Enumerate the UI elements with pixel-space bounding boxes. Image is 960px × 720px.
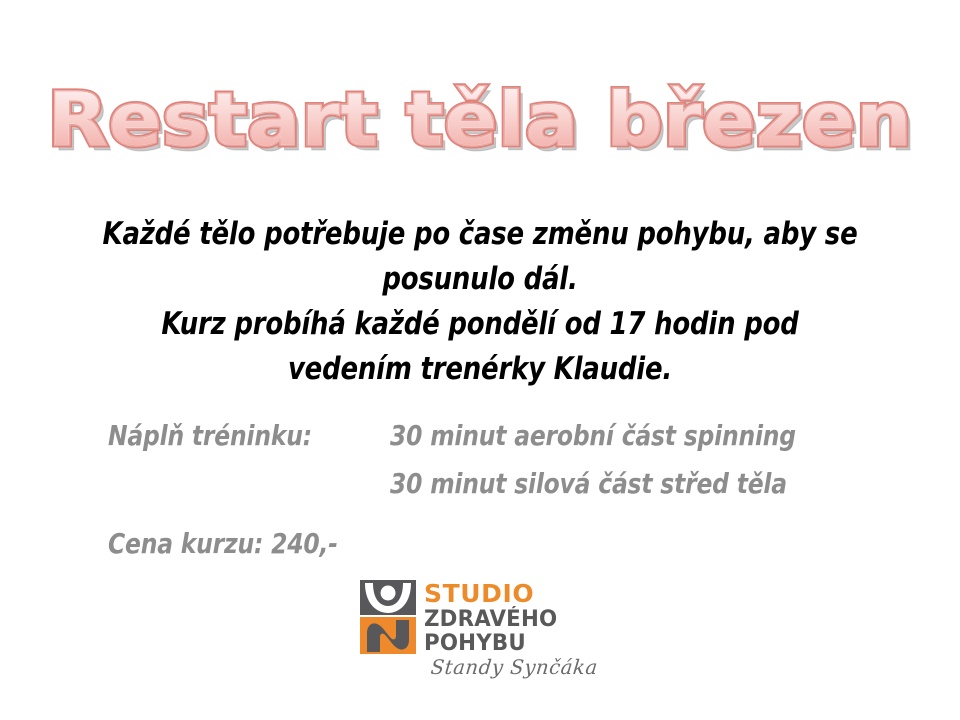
slide-canvas: Restart těla březen Restart těla březen …	[0, 0, 960, 720]
course-price-label: Cena kurzu: 240,-	[108, 520, 338, 568]
logo-text-block: STUDIO ZDRAVÉHO POHYBU Standy Synčáka	[424, 580, 650, 654]
wordart-title: Restart těla březen Restart těla březen …	[48, 82, 913, 160]
training-content-value-2: 30 minut silová část střed těla	[390, 460, 787, 508]
details-block: Náplň tréninku: 30 minut aerobní část sp…	[0, 412, 960, 568]
logo-line-zdraveho-pohybu: ZDRAVÉHO POHYBU	[424, 608, 643, 656]
body-line-4: vedením trenérky Klaudie.	[89, 347, 870, 392]
details-row-price: Cena kurzu: 240,-	[0, 520, 960, 568]
body-line-2: posunulo dál.	[89, 257, 870, 302]
logo-line-standy-syncaka: Standy Synčáka	[430, 656, 646, 678]
details-row-2: 30 minut silová část střed těla	[0, 460, 960, 508]
body-line-1: Každé tělo potřebuje po čase změnu pohyb…	[89, 212, 870, 257]
title-block: Restart těla březen Restart těla březen …	[0, 82, 960, 160]
studio-logo: STUDIO ZDRAVÉHO POHYBU Standy Synčáka	[360, 580, 650, 658]
training-content-value-1: 30 minut aerobní část spinning	[390, 412, 796, 460]
body-paragraph: Každé tělo potřebuje po čase změnu pohyb…	[89, 212, 870, 392]
body-line-3: Kurz probíhá každé pondělí od 17 hodin p…	[89, 302, 870, 347]
logo-line-studio: STUDIO	[424, 581, 650, 606]
training-content-label: Náplň tréninku:	[108, 412, 312, 460]
details-row-1: Náplň tréninku: 30 minut aerobní část sp…	[0, 412, 960, 460]
logo-mark-icon	[360, 580, 416, 654]
wordart-edge-layer: Restart těla březen	[48, 82, 913, 160]
